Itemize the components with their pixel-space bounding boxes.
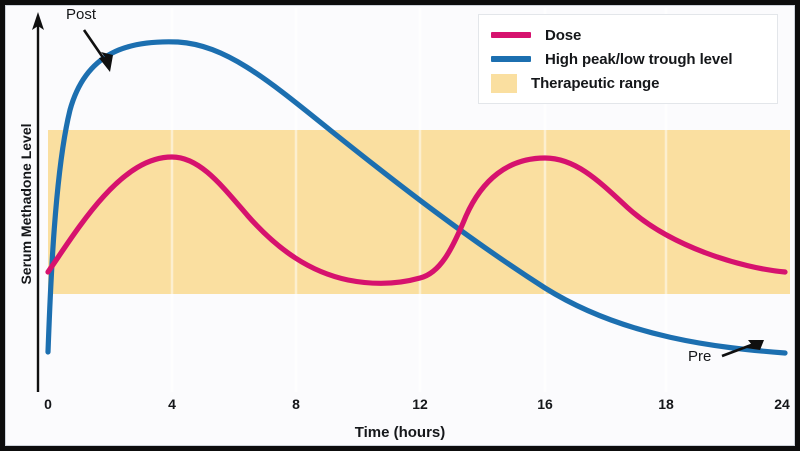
chart-container: Serum Methadone Level Time (hours) 0 4 8… [0, 0, 800, 451]
chart-frame-border [0, 0, 800, 451]
